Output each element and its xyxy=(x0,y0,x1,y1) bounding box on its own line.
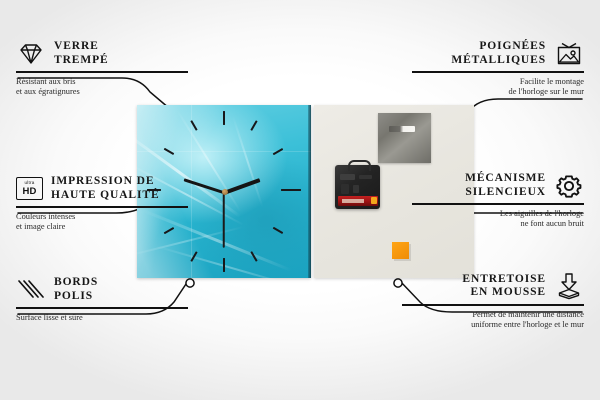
feature-title-line2: TREMPÉ xyxy=(54,54,109,68)
ultra-hd-badge-icon: ultra HD xyxy=(16,177,43,200)
clock-tick xyxy=(250,120,257,130)
mechanism-hanging-loop xyxy=(348,160,371,171)
feature-desc-line1: Facilite le montage xyxy=(406,77,584,88)
clock-tick xyxy=(190,120,197,130)
feature-desc-line1: Permet de maintenir une distance xyxy=(396,310,584,321)
picture-hanger-icon xyxy=(554,41,584,67)
mechanism-detail xyxy=(359,175,372,179)
clock-tick xyxy=(223,258,225,272)
clock-hand-second xyxy=(223,192,225,248)
feature-desc-line1: Surface lisse et sûre xyxy=(16,313,194,324)
clock-center-cap xyxy=(222,189,228,195)
feature-desc-line2: de l'horloge sur le mur xyxy=(406,87,584,98)
feature-title-line2: SILENCIEUX xyxy=(465,186,546,200)
mechanism-detail xyxy=(353,185,359,193)
feature-rule xyxy=(16,307,188,309)
clock-tick xyxy=(190,251,197,261)
feature-title-line1: VERRE xyxy=(54,40,109,54)
foam-spacer xyxy=(392,242,409,259)
feature-desc-line2: et aux égratignures xyxy=(16,87,194,98)
feature-desc-line1: Les aiguilles de l'horloge xyxy=(406,209,584,220)
feature-title-line2: HAUTE QUALITÉ xyxy=(51,189,160,203)
feature-desc-line2: uniforme entre l'horloge et le mur xyxy=(396,320,584,331)
gear-icon xyxy=(554,173,584,199)
feature-rule xyxy=(412,71,584,73)
feature-title-line1: ENTRETOISE xyxy=(462,273,546,287)
battery-label xyxy=(342,199,364,203)
mechanism-detail xyxy=(341,184,349,194)
clock-tick xyxy=(273,148,283,155)
feature-title-line1: MÉCANISME xyxy=(465,172,546,186)
clock-tick xyxy=(281,189,301,191)
feature-verre-trempe: VERRE TREMPÉ Résistant aux bris et aux é… xyxy=(16,40,194,98)
polished-edges-icon xyxy=(16,278,46,302)
clock-tick xyxy=(250,251,257,261)
feature-desc-line1: Résistant aux bris xyxy=(16,77,194,88)
feature-rule xyxy=(412,203,584,205)
feature-desc-line2: et image claire xyxy=(16,222,194,233)
clock-tick xyxy=(273,227,283,234)
feature-title-line2: MÉTALLIQUES xyxy=(451,54,546,68)
clock-tick xyxy=(164,148,174,155)
feature-mecanisme-silencieux: MÉCANISME SILENCIEUX Les aiguilles de l'… xyxy=(406,172,584,230)
feature-bords-polis: BORDS POLIS Surface lisse et sûre xyxy=(16,276,194,323)
feature-desc-line1: Couleurs intenses xyxy=(16,212,194,223)
feature-rule xyxy=(16,206,188,208)
hanger-slot xyxy=(389,126,415,132)
metal-hanger-plate xyxy=(378,113,431,163)
clock-hand-hour xyxy=(223,178,260,194)
feature-title-line2: EN MOUSSE xyxy=(462,286,546,300)
battery xyxy=(338,196,378,206)
feature-poignees-metalliques: POIGNÉES MÉTALLIQUES Facilite le montage… xyxy=(406,40,584,98)
foam-spacer-icon xyxy=(554,272,584,300)
ultra-hd-bottom-text: HD xyxy=(22,187,36,197)
diamond-icon xyxy=(16,42,46,66)
mechanism-detail xyxy=(340,174,355,180)
feature-title-line1: BORDS xyxy=(54,276,98,290)
feature-rule xyxy=(402,304,584,306)
feature-rule xyxy=(16,71,188,73)
feature-impression-hd: ultra HD IMPRESSION DE HAUTE QUALITÉ Cou… xyxy=(16,175,194,233)
battery-plus-terminal xyxy=(371,197,377,204)
clock-mechanism xyxy=(335,165,380,209)
feature-title-line1: IMPRESSION DE xyxy=(51,175,160,189)
feature-entretoise-mousse: ENTRETOISE EN MOUSSE Permet de maintenir… xyxy=(396,272,584,331)
clock-tick xyxy=(223,111,225,125)
ultra-hd-top-text: ultra xyxy=(25,181,35,186)
feature-title-line1: POIGNÉES xyxy=(451,40,546,54)
infographic-canvas: VERRE TREMPÉ Résistant aux bris et aux é… xyxy=(0,0,600,400)
feature-title-line2: POLIS xyxy=(54,290,98,304)
feature-desc-line2: ne font aucun bruit xyxy=(406,219,584,230)
